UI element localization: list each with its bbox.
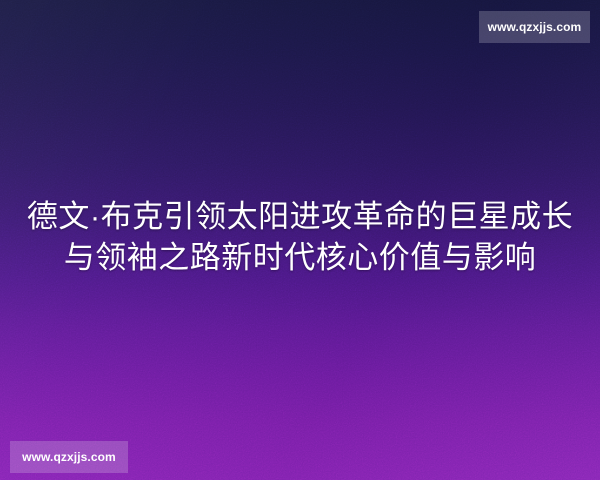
watermark-top-right: www.qzxjjs.com xyxy=(479,11,590,43)
title-line-2: 与领袖之路新时代核心价值与影响 xyxy=(18,237,582,278)
promo-banner: 德文·布克引领太阳进攻革命的巨星成长 与领袖之路新时代核心价值与影响 www.q… xyxy=(0,0,600,480)
watermark-bottom-left: www.qzxjjs.com xyxy=(10,441,128,473)
noise-texture-overlay xyxy=(0,0,600,480)
banner-title: 德文·布克引领太阳进攻革命的巨星成长 与领袖之路新时代核心价值与影响 xyxy=(0,196,600,278)
gradient-sheen-overlay xyxy=(0,0,600,480)
title-line-1: 德文·布克引领太阳进攻革命的巨星成长 xyxy=(18,196,582,237)
